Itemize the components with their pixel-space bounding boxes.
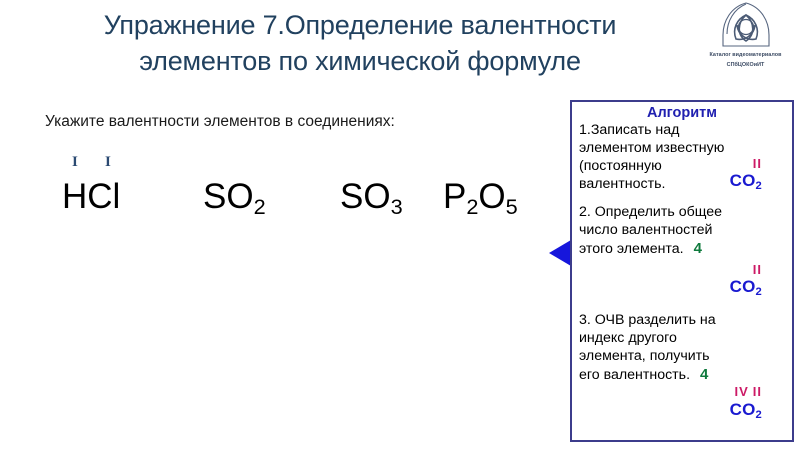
step-3-roman-1: IV xyxy=(734,384,748,399)
step-3-compound-index: 2 xyxy=(756,408,762,420)
step-3-number: 4 xyxy=(700,366,708,383)
prompt-text: Укажите валентности элементов в соединен… xyxy=(45,113,395,131)
step-3-roman-2: II xyxy=(753,384,762,399)
title-line-2: элементов по химической формуле xyxy=(60,44,660,80)
step-2-line-3-text: этого элемента. xyxy=(579,241,684,257)
formula-so2-base: SO xyxy=(203,177,254,216)
step-3-line-4: его валентность.4 xyxy=(579,366,786,385)
algorithm-step-1: 1.Записать над элементом известную (пост… xyxy=(572,122,792,190)
algorithm-panel: Алгоритм 1.Записать над элементом извест… xyxy=(570,100,794,442)
step-1-compound-index: 2 xyxy=(756,180,762,192)
formula-hcl-text: HCl xyxy=(62,177,120,216)
formula-hcl: HCl xyxy=(62,177,120,217)
formula-so3-index: 3 xyxy=(391,194,403,219)
step-3-compound-base: CO xyxy=(730,400,756,419)
formula-p2o5-o: O xyxy=(478,177,505,216)
step-1-compound-base: CO xyxy=(730,171,756,190)
logo-caption-line-2: СПбЦОКОиИТ xyxy=(693,60,798,70)
valence-mark-h: I xyxy=(72,154,78,171)
step-1-line-1: 1.Записать над xyxy=(579,122,786,140)
formula-row: I I HCl SO2 SO3 P2O5 xyxy=(0,152,560,222)
formula-p2o5-p-index: 2 xyxy=(466,194,478,219)
formula-so2: SO2 xyxy=(203,177,266,217)
step-3-line-3: элемента, получить xyxy=(579,348,786,366)
formula-p2o5: P2O5 xyxy=(443,177,518,217)
step-2-example: II CO2 xyxy=(579,263,786,297)
step-2-line-2: число валентностей xyxy=(579,222,786,240)
logo-caption-line-1: Каталог видеоматериалов xyxy=(693,50,798,60)
formula-so3: SO3 xyxy=(340,177,403,217)
valence-mark-cl: I xyxy=(105,154,111,171)
algorithm-step-3: 3. ОЧВ разделить на индекс другого элеме… xyxy=(572,312,792,418)
step-2-roman: II xyxy=(579,263,762,278)
step-2-line-1: 2. Определить общее xyxy=(579,204,786,222)
slide-canvas: Упражнение 7.Определение валентности эле… xyxy=(0,0,800,450)
pointer-triangle-icon xyxy=(549,240,571,266)
step-2-number: 4 xyxy=(694,240,702,257)
triquetra-emblem-icon xyxy=(715,1,777,49)
step-2-line-3: этого элемента.4 xyxy=(579,240,786,259)
step-3-line-1: 3. ОЧВ разделить на xyxy=(579,312,786,330)
algorithm-step-2: 2. Определить общее число валентностей э… xyxy=(572,204,792,296)
step-2-compound: CO2 xyxy=(579,277,762,296)
step-3-compound: CO2 xyxy=(579,400,762,419)
step-3-line-4-text: его валентность. xyxy=(579,367,690,383)
step-2-compound-base: CO xyxy=(730,277,756,296)
page-title: Упражнение 7.Определение валентности эле… xyxy=(60,8,660,79)
formula-p2o5-p: P xyxy=(443,177,466,216)
formula-p2o5-o-index: 5 xyxy=(506,194,518,219)
step-3-line-2: индекс другого xyxy=(579,330,786,348)
logo: Каталог видеоматериалов СПбЦОКОиИТ xyxy=(693,0,798,82)
formula-so3-base: SO xyxy=(340,177,391,216)
title-line-1: Упражнение 7.Определение валентности xyxy=(60,8,660,44)
step-3-roman-group: IVII xyxy=(579,385,762,400)
logo-caption: Каталог видеоматериалов СПбЦОКОиИТ xyxy=(693,50,798,70)
formula-so2-index: 2 xyxy=(254,194,266,219)
step-2-compound-index: 2 xyxy=(756,286,762,298)
algorithm-title: Алгоритм xyxy=(572,105,792,121)
step-3-example: IVII CO2 xyxy=(579,385,786,419)
